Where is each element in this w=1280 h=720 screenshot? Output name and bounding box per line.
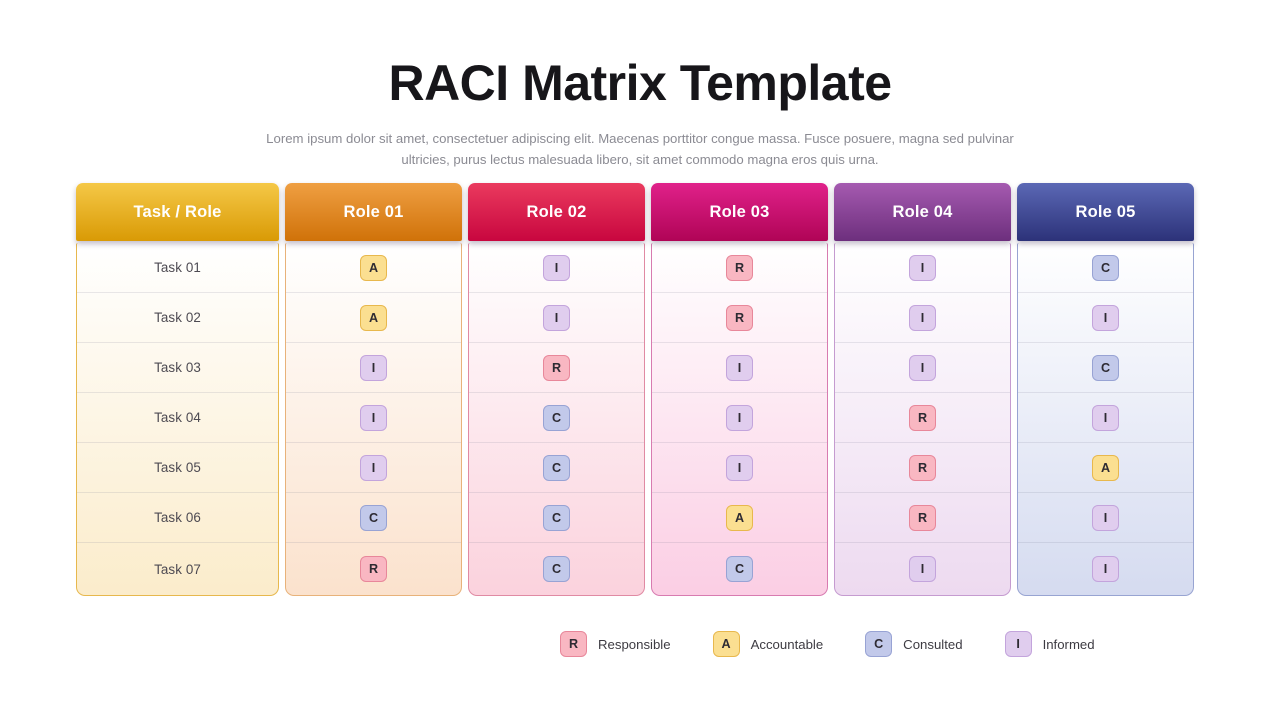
legend-label: Consulted [903, 637, 962, 652]
page-subtitle: Lorem ipsum dolor sit amet, consectetuer… [245, 128, 1035, 170]
raci-badge-a: A [726, 505, 753, 531]
legend-item-r: RResponsible [560, 631, 671, 657]
raci-badge-i: I [1092, 556, 1119, 582]
raci-cell[interactable]: A [286, 293, 461, 343]
raci-cell[interactable]: I [469, 243, 644, 293]
raci-badge-i: I [1092, 505, 1119, 531]
raci-badge-c: C [726, 556, 753, 582]
legend-item-c: CConsulted [865, 631, 962, 657]
legend: RResponsibleAAccountableCConsultedIInfor… [560, 631, 1095, 657]
raci-cell[interactable]: A [652, 493, 827, 543]
matrix-column-task: Task / RoleTask 01Task 02Task 03Task 04T… [76, 183, 279, 596]
legend-label: Accountable [751, 637, 824, 652]
page-title: RACI Matrix Template [0, 0, 1280, 108]
raci-badge-r: R [726, 305, 753, 331]
task-label: Task 04 [154, 410, 201, 425]
column-body: Task 01Task 02Task 03Task 04Task 05Task … [76, 243, 279, 596]
raci-cell[interactable]: R [469, 343, 644, 393]
column-header-role-4[interactable]: Role 04 [834, 183, 1011, 241]
raci-badge-i: I [909, 556, 936, 582]
raci-badge-i: I [360, 455, 387, 481]
raci-badge-i: I [1092, 305, 1119, 331]
raci-badge-a: A [1092, 455, 1119, 481]
task-label: Task 02 [154, 310, 201, 325]
raci-cell[interactable]: I [652, 343, 827, 393]
raci-badge-i: I [726, 455, 753, 481]
raci-badge-a: A [360, 255, 387, 281]
raci-badge-i: I [726, 405, 753, 431]
raci-badge-i: I [909, 305, 936, 331]
raci-cell[interactable]: I [286, 443, 461, 493]
raci-matrix-slide: RACI Matrix Template Lorem ipsum dolor s… [0, 0, 1280, 720]
column-body: IIRCCCC [468, 243, 645, 596]
legend-badge-a: A [713, 631, 740, 657]
raci-badge-r: R [360, 556, 387, 582]
task-cell[interactable]: Task 02 [77, 293, 278, 343]
raci-badge-c: C [543, 505, 570, 531]
raci-cell[interactable]: R [835, 493, 1010, 543]
task-cell[interactable]: Task 05 [77, 443, 278, 493]
matrix-column-role-5: Role 05CICIAII [1017, 183, 1194, 596]
raci-cell[interactable]: I [286, 393, 461, 443]
raci-cell[interactable]: I [652, 443, 827, 493]
raci-badge-i: I [909, 255, 936, 281]
matrix-column-role-1: Role 01AAIIICR [285, 183, 462, 596]
task-cell[interactable]: Task 06 [77, 493, 278, 543]
legend-item-a: AAccountable [713, 631, 824, 657]
raci-badge-i: I [909, 355, 936, 381]
matrix-column-role-4: Role 04IIIRRRI [834, 183, 1011, 596]
task-cell[interactable]: Task 01 [77, 243, 278, 293]
raci-cell[interactable]: I [469, 293, 644, 343]
column-body: RRIIIAC [651, 243, 828, 596]
raci-cell[interactable]: C [1018, 243, 1193, 293]
task-cell[interactable]: Task 07 [77, 543, 278, 595]
raci-cell[interactable]: I [835, 343, 1010, 393]
raci-badge-c: C [360, 505, 387, 531]
raci-cell[interactable]: C [469, 443, 644, 493]
raci-cell[interactable]: I [835, 543, 1010, 595]
raci-cell[interactable]: C [469, 543, 644, 595]
raci-cell[interactable]: I [1018, 393, 1193, 443]
raci-badge-c: C [543, 556, 570, 582]
matrix-column-role-2: Role 02IIRCCCC [468, 183, 645, 596]
raci-cell[interactable]: C [469, 393, 644, 443]
raci-badge-c: C [543, 455, 570, 481]
raci-badge-c: C [543, 405, 570, 431]
legend-badge-c: C [865, 631, 892, 657]
raci-cell[interactable]: I [1018, 543, 1193, 595]
raci-cell[interactable]: I [835, 243, 1010, 293]
column-header-role-2[interactable]: Role 02 [468, 183, 645, 241]
raci-badge-i: I [726, 355, 753, 381]
raci-cell[interactable]: R [286, 543, 461, 595]
raci-cell[interactable]: I [286, 343, 461, 393]
raci-badge-r: R [909, 455, 936, 481]
legend-badge-i: I [1005, 631, 1032, 657]
raci-cell[interactable]: R [652, 243, 827, 293]
matrix-column-role-3: Role 03RRIIIAC [651, 183, 828, 596]
raci-badge-i: I [1092, 405, 1119, 431]
raci-badge-i: I [543, 305, 570, 331]
task-cell[interactable]: Task 03 [77, 343, 278, 393]
raci-cell[interactable]: R [835, 443, 1010, 493]
task-cell[interactable]: Task 04 [77, 393, 278, 443]
legend-label: Responsible [598, 637, 671, 652]
raci-cell[interactable]: A [286, 243, 461, 293]
raci-cell[interactable]: R [652, 293, 827, 343]
raci-cell[interactable]: I [652, 393, 827, 443]
column-body: IIIRRRI [834, 243, 1011, 596]
column-body: AAIIICR [285, 243, 462, 596]
raci-badge-c: C [1092, 255, 1119, 281]
raci-cell[interactable]: C [652, 543, 827, 595]
raci-cell[interactable]: C [469, 493, 644, 543]
raci-cell[interactable]: I [835, 293, 1010, 343]
legend-item-i: IInformed [1005, 631, 1095, 657]
raci-badge-i: I [360, 405, 387, 431]
task-label: Task 06 [154, 510, 201, 525]
raci-badge-r: R [726, 255, 753, 281]
task-label: Task 01 [154, 260, 201, 275]
raci-cell[interactable]: C [1018, 343, 1193, 393]
raci-badge-r: R [909, 505, 936, 531]
raci-cell[interactable]: I [1018, 293, 1193, 343]
raci-badge-r: R [909, 405, 936, 431]
raci-badge-i: I [543, 255, 570, 281]
task-label: Task 07 [154, 562, 201, 577]
raci-cell[interactable]: I [1018, 493, 1193, 543]
column-header-role-1[interactable]: Role 01 [285, 183, 462, 241]
raci-badge-a: A [360, 305, 387, 331]
raci-cell[interactable]: C [286, 493, 461, 543]
legend-label: Informed [1043, 637, 1095, 652]
task-label: Task 05 [154, 460, 201, 475]
raci-matrix-table: Task / RoleTask 01Task 02Task 03Task 04T… [76, 183, 1206, 596]
raci-badge-i: I [360, 355, 387, 381]
column-header-role-3[interactable]: Role 03 [651, 183, 828, 241]
raci-cell[interactable]: R [835, 393, 1010, 443]
column-body: CICIAII [1017, 243, 1194, 596]
column-header-task[interactable]: Task / Role [76, 183, 279, 241]
column-header-role-5[interactable]: Role 05 [1017, 183, 1194, 241]
raci-badge-r: R [543, 355, 570, 381]
task-label: Task 03 [154, 360, 201, 375]
raci-cell[interactable]: A [1018, 443, 1193, 493]
raci-badge-c: C [1092, 355, 1119, 381]
legend-badge-r: R [560, 631, 587, 657]
